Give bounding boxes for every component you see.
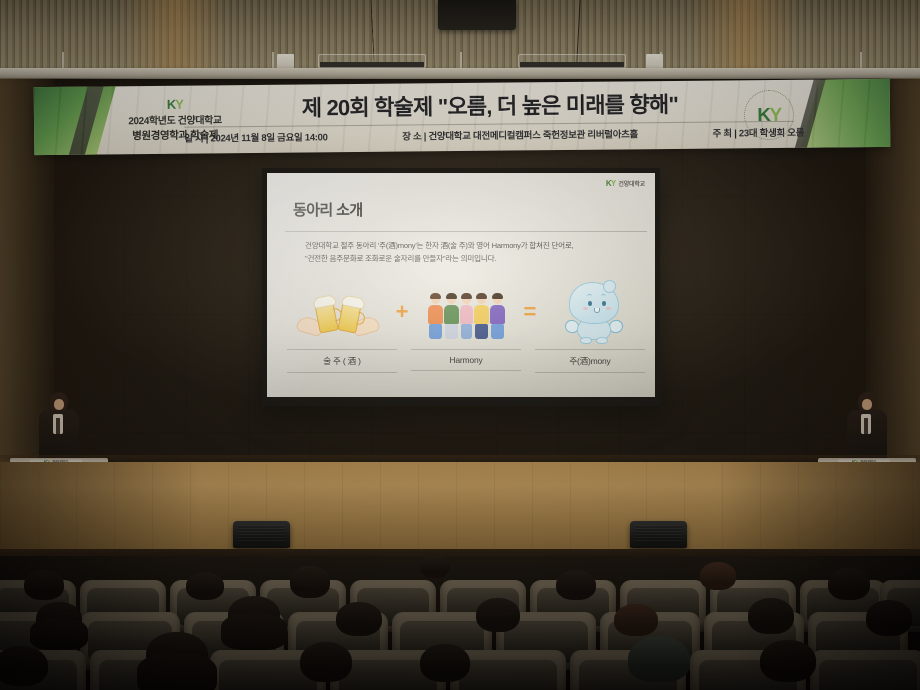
person-hair (446, 293, 457, 299)
projected-slide: KY 건양대학교 동아리 소개 건양대학교 절주 동아리 '주(酒)mony'는… (267, 173, 655, 397)
person-head (462, 295, 471, 304)
banner-place: 장 소 | 건양대학교 대전메디컬캠퍼스 죽헌정보관 리버럴아츠홀 (402, 126, 638, 142)
audience-head (0, 646, 48, 686)
audience-head (748, 598, 794, 634)
slide-body-line1: 건양대학교 절주 동아리 '주(酒)mony'는 한자 酒(술 주)와 영어 H… (305, 239, 623, 252)
person-figure (428, 295, 443, 339)
banner-title: 제 20회 학술제 "오름, 더 높은 미래를 향해" (230, 86, 750, 123)
audience-head (628, 636, 690, 682)
audience-head (420, 644, 470, 682)
slide-ky-icon: KY (606, 179, 616, 188)
person-face (54, 399, 64, 410)
stage-floor (0, 462, 920, 554)
person-top (474, 305, 489, 324)
equation-equals-operator: = (517, 299, 543, 325)
mascot-head (569, 282, 619, 324)
speaker-grill (635, 525, 682, 543)
audience-head (614, 604, 658, 636)
person-head (477, 295, 486, 304)
audience-head (24, 570, 64, 600)
person-hair (476, 293, 487, 299)
equation-label-jumony: 주(酒)mony (535, 349, 645, 373)
audience-seating (0, 556, 920, 690)
stage-monitor-speaker-right (630, 521, 687, 548)
person-head (447, 295, 456, 304)
person-top (428, 305, 443, 324)
slide-body-text: 건양대학교 절주 동아리 '주(酒)mony'는 한자 酒(술 주)와 영어 H… (305, 239, 623, 266)
audience-head (760, 640, 816, 682)
audience-head (700, 562, 736, 590)
audience-head (420, 556, 450, 578)
stage-monitor-speaker-left (233, 521, 290, 548)
equation-label-harmony: Harmony (411, 349, 521, 371)
equation-label-beer: 술 주 ( 酒 ) (287, 349, 397, 373)
speaker-grill (238, 525, 285, 543)
slide-university-logo: KY 건양대학교 (606, 179, 645, 188)
mascot-foot (580, 337, 592, 344)
mascot-foot (596, 337, 608, 344)
lighting-truss-left (318, 54, 426, 68)
audience-head (556, 570, 596, 600)
slide-body-line2: "건전한 음주문화로 조화로운 술자리를 만들자"라는 의미입니다. (305, 252, 623, 265)
audience-head (300, 642, 352, 682)
event-banner: KY 2024학년도 건양대학교 병원경영학과 학술제 제 20회 학술제 "오… (34, 79, 891, 155)
person-top (490, 305, 505, 324)
equation-term-mascot (543, 279, 645, 345)
person-top (444, 305, 459, 324)
auditorium-screenshot: KY 2024학년도 건양대학교 병원경영학과 학술제 제 20회 학술제 "오… (0, 0, 920, 690)
slide-title-divider (285, 231, 647, 232)
banner-date: 일 시 | 2024년 11월 8일 금요일 14:00 (184, 129, 328, 144)
ceiling-warm-band-right (690, 0, 800, 78)
person-hair (461, 293, 472, 299)
equation-term-people (415, 279, 517, 345)
label-cell-jumony: 주(酒)mony (535, 349, 645, 373)
person-legs (491, 324, 504, 339)
slide-equation-row: + (287, 279, 645, 345)
person-top (460, 305, 473, 324)
seal-ring (744, 90, 794, 140)
beer-foam (312, 294, 337, 309)
person-legs (461, 324, 472, 339)
person-tie (56, 418, 60, 434)
person-face (862, 399, 872, 410)
audience-head (146, 632, 208, 678)
audience-head (866, 600, 912, 636)
equation-term-beer (287, 279, 389, 345)
seat (810, 650, 920, 690)
audience-head (186, 572, 224, 600)
equation-plus-operator: + (389, 299, 415, 325)
mascot-mouth (594, 308, 600, 313)
label-cell-harmony: Harmony (411, 349, 521, 373)
audience-head (828, 568, 870, 600)
audience-head (228, 596, 280, 634)
person-legs (475, 324, 488, 339)
people-group-icon (423, 285, 509, 339)
water-drop-mascot-icon (563, 282, 625, 342)
mascot-droplet-tip (601, 278, 618, 295)
audience-head (476, 598, 520, 632)
mascot-eye (588, 301, 592, 306)
person-head (493, 295, 502, 304)
beer-foam (341, 294, 366, 309)
person-hair (492, 293, 503, 299)
mascot-cheek (606, 307, 611, 310)
mascot-brow (587, 294, 592, 297)
audience-head (36, 602, 82, 636)
lighting-truss-right (518, 54, 626, 68)
label-cell-beer: 술 주 ( 酒 ) (287, 349, 397, 373)
ceiling-warm-band-left (120, 0, 230, 78)
person-head (431, 295, 440, 304)
ky-logo-icon: KY (167, 97, 183, 110)
banner-left-line1: 2024학년도 건양대학교 (128, 111, 222, 127)
beer-mugs-icon (299, 286, 377, 338)
projection-screen-frame: KY 건양대학교 동아리 소개 건양대학교 절주 동아리 '주(酒)mony'는… (262, 168, 660, 406)
beer-mug-icon (314, 300, 338, 333)
person-figure (444, 295, 459, 339)
mascot-brow (601, 294, 606, 297)
stage-floor-shading (0, 462, 920, 554)
audience-head (290, 566, 330, 598)
ky-seal-icon: KY (744, 90, 794, 140)
audience-head (336, 602, 382, 636)
mascot-cheek (583, 307, 588, 310)
slide-title: 동아리 소개 (293, 199, 363, 220)
person-hair (430, 293, 441, 299)
banner-meta-row: 일 시 | 2024년 11월 8일 금요일 14:00 장 소 | 건양대학교… (184, 125, 804, 145)
slide-label-row: 술 주 ( 酒 ) Harmony 주(酒)mony (287, 349, 645, 373)
person-legs (429, 324, 442, 339)
person-figure (490, 295, 505, 339)
projector-housing (438, 0, 516, 30)
mascot-eye (602, 301, 606, 306)
person-tie (864, 418, 868, 434)
person-figure (460, 295, 473, 339)
person-figure (474, 295, 489, 339)
slide-logo-name: 건양대학교 (618, 179, 645, 188)
person-legs (445, 324, 458, 339)
